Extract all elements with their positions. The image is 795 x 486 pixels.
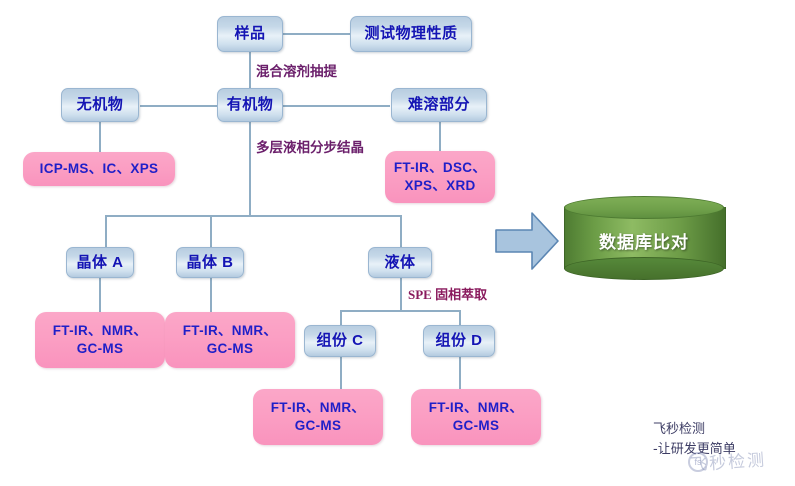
cylinder-bottom-ellipse (564, 257, 724, 280)
analysis-fraction-c-methods-line2: GC-MS (295, 417, 342, 435)
database-cylinder[interactable]: 数据库比对 (564, 196, 724, 280)
flowchart-canvas: 样品 测试物理性质 混合溶剂抽提 无机物 有机物 难溶部分 多层液相分步结晶 I… (0, 0, 795, 486)
analysis-fraction-c-methods-line1: FT-IR、NMR、 (271, 399, 366, 417)
analysis-insoluble-methods-line2: XPS、XRD (404, 177, 475, 195)
analysis-insoluble-methods[interactable]: FT-IR、DSC、 XPS、XRD (385, 151, 495, 203)
arrow-to-database (494, 208, 560, 274)
node-crystal-a[interactable]: 晶体 A (66, 247, 134, 278)
node-organic[interactable]: 有机物 (217, 88, 283, 122)
analysis-fraction-c-methods[interactable]: FT-IR、NMR、 GC-MS (253, 389, 383, 445)
node-crystal-b-label: 晶体 B (186, 254, 233, 271)
connector-insoluble-to-methods (439, 122, 441, 151)
edge-label-extraction: 混合溶剂抽提 (256, 60, 337, 80)
node-inorganic-label: 无机物 (77, 96, 124, 113)
connector-fraction-c-to-methods (340, 357, 342, 389)
node-physical-test-label: 测试物理性质 (364, 25, 457, 42)
connector-organic-bus (105, 215, 401, 217)
node-crystal-a-label: 晶体 A (76, 254, 123, 271)
connector-sample-to-organic (249, 52, 251, 88)
node-sample[interactable]: 样品 (217, 16, 283, 52)
node-fraction-c-label: 组份 C (316, 332, 363, 349)
analysis-crystal-a-methods-line2: GC-MS (77, 340, 124, 358)
node-insoluble-label: 难溶部分 (408, 96, 470, 113)
watermark-text: 飞秒检测 (689, 445, 767, 475)
right-arrow-icon (494, 208, 560, 274)
connector-inorganic-to-organic (140, 105, 218, 107)
node-fraction-d[interactable]: 组份 D (423, 325, 495, 357)
node-crystal-b[interactable]: 晶体 B (176, 247, 244, 278)
analysis-fraction-d-methods[interactable]: FT-IR、NMR、 GC-MS (411, 389, 541, 445)
connector-fraction-d-to-methods (459, 357, 461, 389)
edge-label-spe: SPE 固相萃取 (408, 284, 487, 303)
connector-bus-to-crystal-a (105, 215, 107, 247)
connector-crystal-a-to-methods (99, 278, 101, 312)
connector-bus-to-fraction-c (340, 310, 342, 325)
node-physical-test[interactable]: 测试物理性质 (350, 16, 472, 52)
edge-label-crystallization: 多层液相分步结晶 (256, 136, 364, 156)
connector-liquid-bus (340, 310, 460, 312)
node-insoluble[interactable]: 难溶部分 (391, 88, 487, 122)
node-sample-label: 样品 (234, 25, 265, 42)
analysis-inorganic-methods[interactable]: ICP-MS、IC、XPS (23, 152, 175, 186)
connector-bus-to-crystal-b (210, 215, 212, 247)
analysis-crystal-a-methods-line1: FT-IR、NMR、 (53, 322, 148, 340)
node-fraction-c[interactable]: 组份 C (304, 325, 376, 357)
connector-organic-down (249, 122, 251, 216)
node-liquid[interactable]: 液体 (368, 247, 432, 278)
analysis-inorganic-methods-label: ICP-MS、IC、XPS (40, 160, 159, 178)
node-liquid-label: 液体 (384, 254, 415, 271)
connector-bus-to-liquid (400, 215, 402, 247)
node-fraction-d-label: 组份 D (435, 332, 482, 349)
analysis-fraction-d-methods-line2: GC-MS (453, 417, 500, 435)
node-organic-label: 有机物 (227, 96, 274, 113)
connector-sample-to-physical (283, 33, 350, 35)
connector-organic-to-insoluble (283, 105, 390, 107)
analysis-crystal-b-methods-line1: FT-IR、NMR、 (183, 322, 278, 340)
analysis-crystal-b-methods[interactable]: FT-IR、NMR、 GC-MS (165, 312, 295, 368)
analysis-crystal-a-methods[interactable]: FT-IR、NMR、 GC-MS (35, 312, 165, 368)
analysis-fraction-d-methods-line1: FT-IR、NMR、 (429, 399, 524, 417)
connector-bus-to-fraction-d (459, 310, 461, 325)
footer-line-1: 飞秒检测 (653, 420, 736, 440)
connector-crystal-b-to-methods (210, 278, 212, 312)
connector-inorganic-to-methods (99, 122, 101, 152)
connector-liquid-down (400, 278, 402, 310)
node-inorganic[interactable]: 无机物 (61, 88, 139, 122)
analysis-crystal-b-methods-line2: GC-MS (207, 340, 254, 358)
database-label: 数据库比对 (564, 220, 724, 260)
cylinder-top-ellipse (564, 196, 724, 219)
analysis-insoluble-methods-line1: FT-IR、DSC、 (394, 159, 486, 177)
